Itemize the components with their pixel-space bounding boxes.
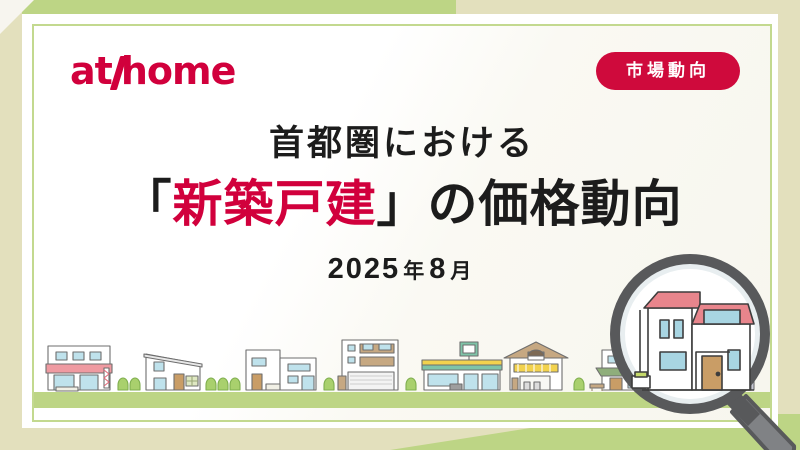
building-cafe-striped-awning <box>504 342 568 390</box>
report-cover: athome 市場動向 首都圏における 「新築戸建」の価格動向 2025年8月 <box>0 0 800 450</box>
tree-group-2 <box>206 378 240 390</box>
badge-label: 市場動向 <box>626 61 710 80</box>
cover-card: athome 市場動向 首都圏における 「新築戸建」の価格動向 2025年8月 <box>32 24 772 422</box>
date-month: 8 <box>429 253 447 285</box>
building-convenience-store <box>422 342 502 390</box>
page-title-line1: 首都圏における <box>34 122 770 166</box>
status-badge: 市場動向 <box>596 52 740 90</box>
roof-slash-mark-icon <box>111 56 124 90</box>
report-date: 2025年8月 <box>34 253 770 286</box>
tree-group-6 <box>664 378 686 390</box>
close-bracket: 」 <box>377 176 428 232</box>
left-beige-band <box>0 0 22 450</box>
building-shop-red-awning <box>46 346 112 391</box>
tree-group-5 <box>574 378 584 390</box>
title-highlight: 新築戸建 <box>173 176 377 232</box>
tree-group-4 <box>406 378 416 390</box>
building-apartment-balcony <box>338 340 398 390</box>
townscape-illustration <box>34 332 770 394</box>
right-beige-band <box>778 0 800 450</box>
title-block: 首都圏における 「新築戸建」の価格動向 2025年8月 <box>34 122 770 286</box>
date-year-unit: 年 <box>403 260 426 283</box>
logo-text-home: home <box>121 49 236 93</box>
building-office-white <box>246 350 316 390</box>
building-slant-house <box>144 354 202 390</box>
athome-logo: athome <box>70 52 235 90</box>
tree-group-1 <box>118 378 140 390</box>
page-title-line2: 「新築戸建」の価格動向 <box>34 172 770 237</box>
logo-text-at: at <box>70 49 112 93</box>
ground-strip <box>34 392 770 408</box>
building-tall-apartment <box>692 334 754 390</box>
tree-group-3 <box>324 378 334 390</box>
building-green-awning-shop <box>590 350 660 391</box>
date-year: 2025 <box>328 253 401 285</box>
date-month-unit: 月 <box>450 260 473 283</box>
open-bracket: 「 <box>122 176 173 232</box>
title-tail: の価格動向 <box>428 176 683 232</box>
